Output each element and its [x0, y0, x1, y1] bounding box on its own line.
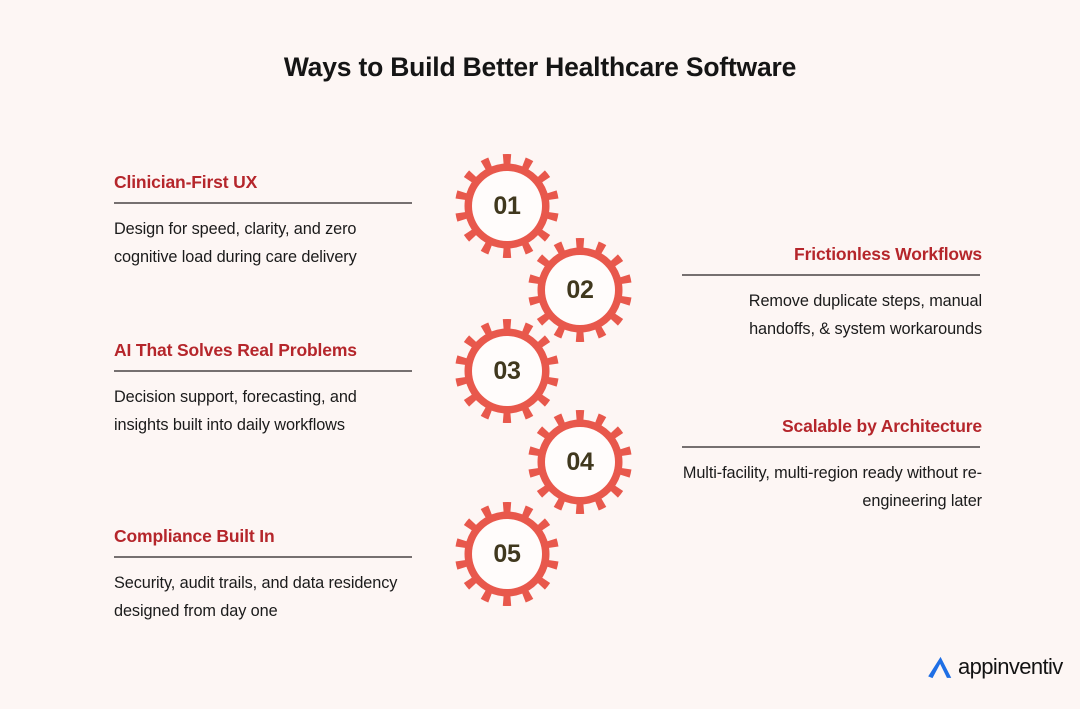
feature-block-clinician-first-ux: Clinician-First UX Design for speed, cla…	[114, 172, 414, 271]
feature-block-compliance-built-in: Compliance Built In Security, audit trai…	[114, 526, 414, 625]
heading-divider	[114, 556, 412, 558]
feature-body: Multi-facility, multi-region ready witho…	[682, 459, 982, 515]
heading-divider	[114, 202, 412, 204]
feature-block-scalable-by-architecture: Scalable by Architecture Multi-facility,…	[682, 416, 982, 515]
feature-heading: Frictionless Workflows	[682, 244, 982, 265]
feature-heading: Clinician-First UX	[114, 172, 414, 193]
brand-logo-text: appinventiv	[958, 656, 1063, 678]
feature-body: Remove duplicate steps, manual handoffs,…	[682, 287, 982, 343]
heading-divider	[682, 446, 980, 448]
feature-heading: Scalable by Architecture	[682, 416, 982, 437]
gear-step-04: 04	[527, 409, 633, 515]
feature-body: Decision support, forecasting, and insig…	[114, 383, 414, 439]
feature-body: Design for speed, clarity, and zero cogn…	[114, 215, 414, 271]
feature-block-ai-that-solves-real-problems: AI That Solves Real Problems Decision su…	[114, 340, 414, 439]
heading-divider	[682, 274, 980, 276]
gear-step-05: 05	[454, 501, 560, 607]
feature-heading: Compliance Built In	[114, 526, 414, 547]
gear-icon	[454, 501, 560, 607]
brand-logo: appinventiv	[925, 652, 1063, 682]
infographic-canvas: Ways to Build Better Healthcare Software…	[0, 0, 1080, 709]
feature-heading: AI That Solves Real Problems	[114, 340, 414, 361]
feature-body: Security, audit trails, and data residen…	[114, 569, 414, 625]
page-title: Ways to Build Better Healthcare Software	[0, 52, 1080, 83]
feature-block-frictionless-workflows: Frictionless Workflows Remove duplicate …	[682, 244, 982, 343]
appinventiv-a-chevron-icon	[925, 652, 955, 682]
heading-divider	[114, 370, 412, 372]
gear-icon	[527, 409, 633, 515]
